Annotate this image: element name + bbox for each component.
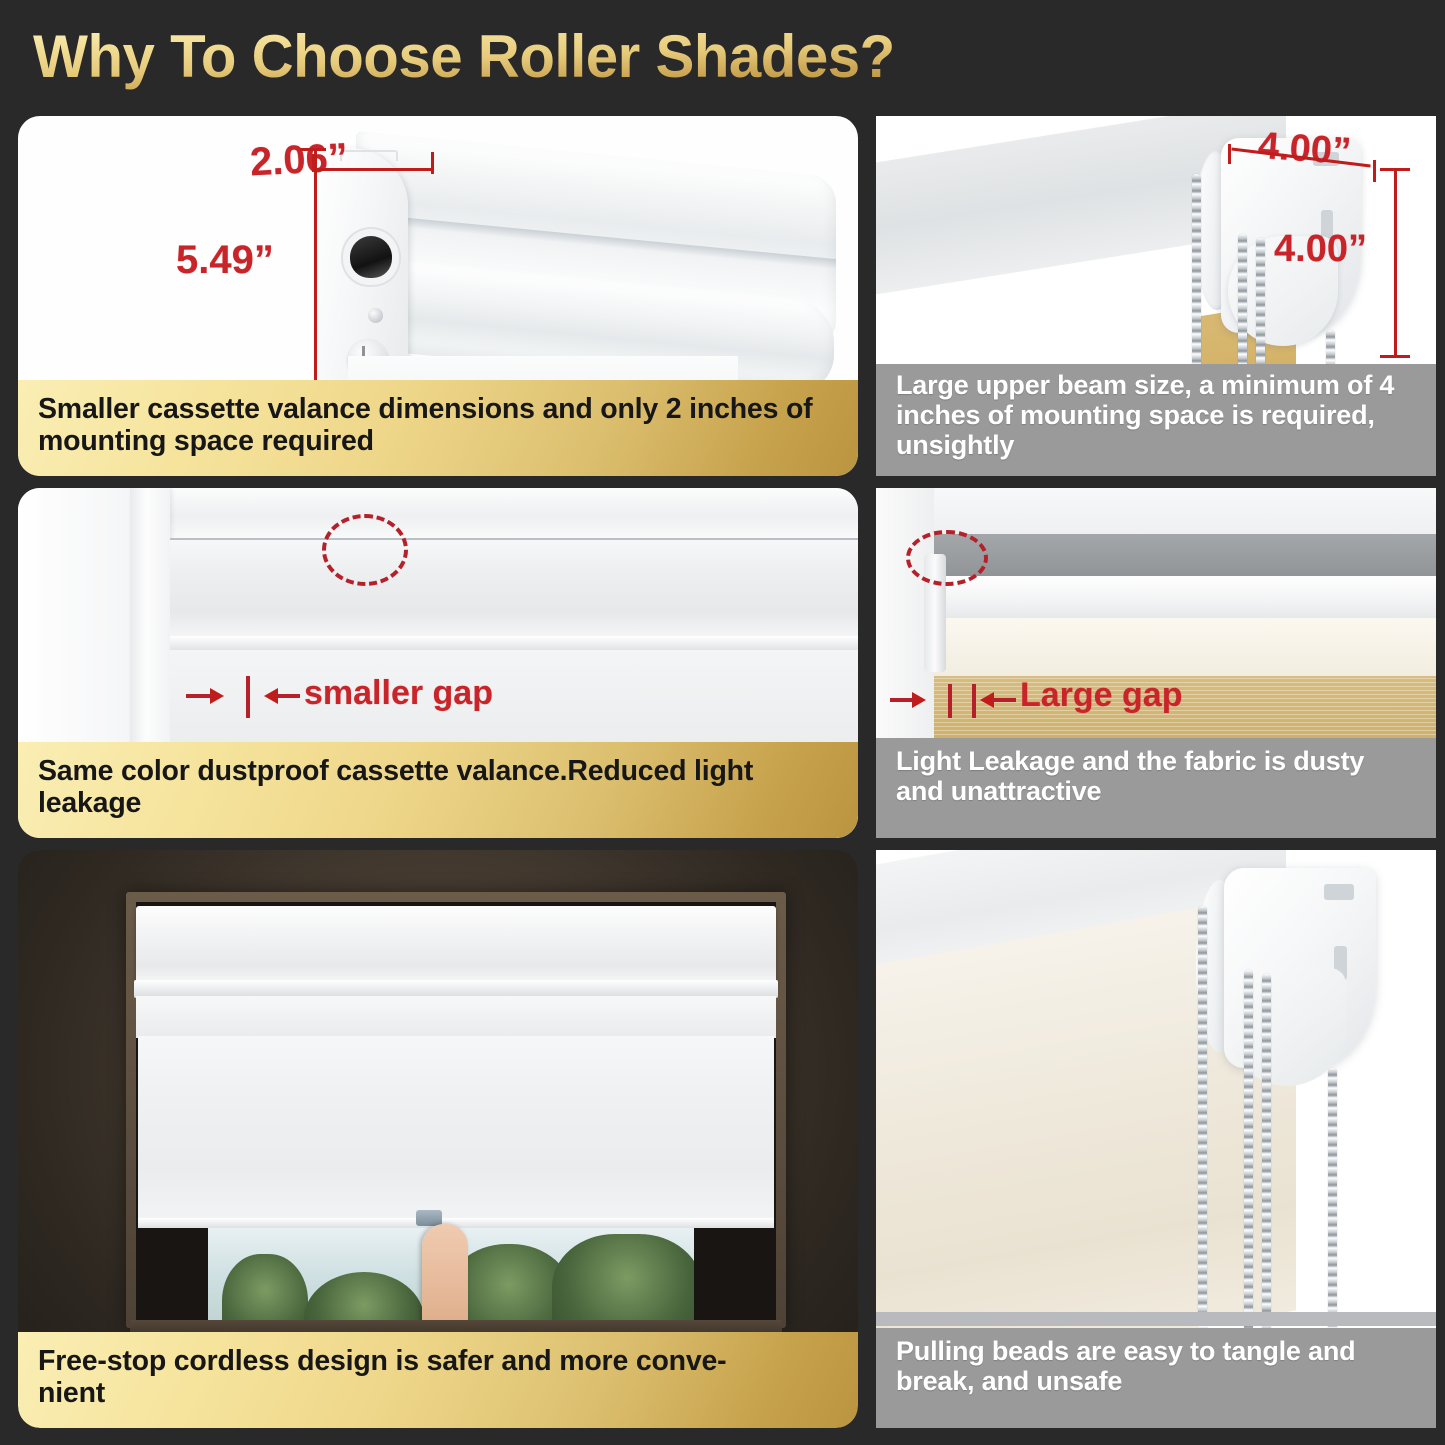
beam-height-dimension-line [1394,168,1397,358]
height-dimension-label: 5.49” [176,238,274,283]
caption-panel-5: Free-stop cordless design is safer and m… [18,1332,858,1428]
header-bar: Why To Choose Roller Shades? Why To Choo… [0,0,1445,108]
valance-end-cap [316,148,408,386]
gap-label-large: Large gap [1020,676,1182,715]
beam-width-tick-left [1228,144,1231,164]
caption-panel-4: Light Leakage and the fabric is dusty an… [876,738,1436,838]
caption-panel-5-line-1: Free-stop cordless design is safer and m… [38,1346,838,1378]
caption-panel-5-line-2: nient [38,1378,838,1410]
caption-panel-4-text: Light Leakage and the fabric is dusty an… [896,746,1364,806]
height-dimension-tick-top [300,148,326,151]
panel-smaller-cassette: 2.06” 5.49” Smaller cassette valance dim… [18,116,858,476]
width-dimension-line [314,168,434,171]
beam-height-tick-top [1380,168,1410,171]
valance-top-tab [340,150,398,161]
caption-panel-3-text: Same color dustproof cassette valance.Re… [38,755,753,819]
valance-illustration [306,148,836,383]
valance-band [136,996,776,1038]
panel-large-beam: 4.00” 4.00” Large upper beam size, a min… [876,116,1436,476]
highlight-circle-annotation [322,514,408,586]
valance-slot-icon [350,236,392,278]
height-dimension-line [314,148,317,386]
cassette-valance [170,538,858,643]
beam-width-tick-right [1373,160,1376,182]
width-dimension-label: 2.06” [249,135,349,185]
cassette-headrail [136,906,776,986]
panel-dustproof-valance: smaller gap Same color dustproof cassett… [18,488,858,838]
comparison-grid: 2.06” 5.49” Smaller cassette valance dim… [0,108,1445,1445]
width-dimension-tick-right [431,152,434,174]
gap-arrow-tail [186,694,212,698]
gap-arrow-right-icon [210,688,224,704]
caption-panel-1: Smaller cassette valance dimensions and … [18,380,858,476]
beam-width-dimension-label: 4.00” [1257,125,1353,174]
gap-marker [246,676,250,718]
page-title: Why To Choose Roller Shades? [33,22,895,91]
panel-cordless-design: Free-stop cordless design is safer and m… [18,850,858,1428]
caption-panel-1-text: Smaller cassette valance dimensions and … [38,393,812,457]
caption-panel-2: Large upper beam size, a minimum of 4 in… [876,364,1436,476]
shade-fabric [138,1036,774,1226]
gap-arrow-tail [890,698,914,702]
cream-band [934,618,1436,676]
caption-panel-6: Pulling beads are easy to tangle and bre… [876,1328,1436,1428]
gap-marker-right [972,684,976,718]
floor-band [876,1312,1436,1326]
bead-chain [1244,970,1253,1336]
bead-chain [1198,906,1207,1336]
caption-panel-3: Same color dustproof cassette valance.Re… [18,742,858,838]
caption-panel-6-text: Pulling beads are easy to tangle and bre… [896,1336,1355,1396]
bead-chain [1328,1068,1337,1336]
gap-label-small: smaller gap [304,674,493,713]
highlight-circle-annotation [906,530,988,586]
beam-height-tick-bottom [1380,355,1410,358]
bracket-slot-icon [1324,884,1354,900]
valance-screw-icon [368,308,383,323]
caption-panel-2-text: Large upper beam size, a minimum of 4 in… [896,370,1394,460]
panel-pulling-beads: Pulling beads are easy to tangle and bre… [876,850,1436,1428]
gap-arrow-tail [992,698,1016,702]
beam-height-dimension-label: 4.00” [1274,228,1367,271]
gap-arrow-tail [276,694,300,698]
shadow-band [934,534,1436,582]
gap-arrow-right-icon [912,692,926,708]
bead-chain [1262,974,1271,1336]
gap-marker-left [948,684,952,718]
panel-light-leakage: Large gap Light Leakage and the fabric i… [876,488,1436,838]
window-frame-top [130,488,858,540]
